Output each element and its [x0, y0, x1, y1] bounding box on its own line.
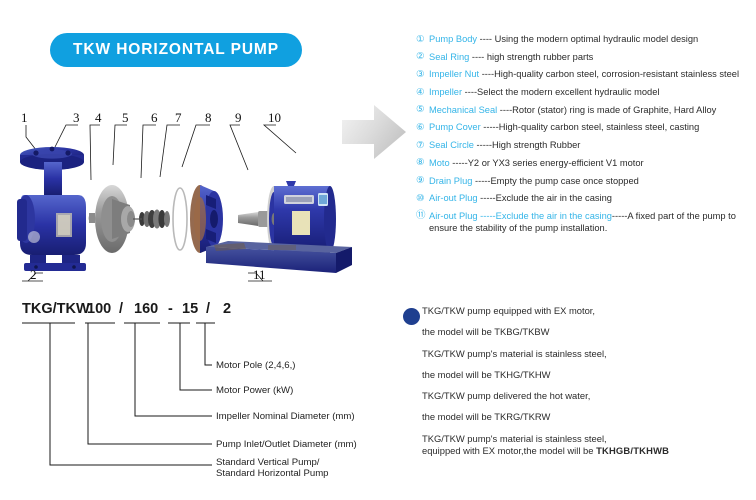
- model-variant-notes: TKG/TKW pump equipped with EX motor, the…: [400, 300, 756, 495]
- impeller-part: [95, 185, 135, 253]
- seal-circle-part: [173, 188, 187, 250]
- part-name: Pump Body: [429, 34, 477, 44]
- part-name: Air-out Plug -----Exclude the air in the…: [429, 211, 612, 221]
- parts-legend-list: ① Pump Body ---- Using the modern optima…: [416, 33, 756, 240]
- callout-number-11: 11: [253, 267, 266, 282]
- part-description: ----Rotor (stator) ring is made of Graph…: [497, 105, 716, 115]
- model-token-dash: -: [168, 301, 173, 317]
- model-token-impeller: 160: [134, 301, 158, 317]
- part-number: ⑨: [416, 175, 429, 188]
- label-motor-power: Motor Power (kW): [216, 385, 293, 396]
- part-number: ⑥: [416, 121, 429, 134]
- note-line: TKG/TKW pump's material is stainless ste…: [422, 433, 752, 444]
- label-motor-pole: Motor Pole (2,4,6,): [216, 360, 295, 371]
- part-description: -----Y2 or YX3 series energy-efficient V…: [450, 158, 644, 168]
- part-number: ⑦: [416, 139, 429, 152]
- parts-list-item: ⑤ Mechanical Seal ----Rotor (stator) rin…: [416, 104, 756, 117]
- page-title: TKW HORIZONTAL PUMP: [73, 41, 279, 59]
- callout-number-3: 3: [73, 110, 80, 125]
- note-line: equipped with EX motor,the model will be…: [422, 445, 752, 456]
- note-line: TKG/TKW pump equipped with EX motor,: [422, 305, 752, 316]
- callout-number-9: 9: [235, 110, 242, 125]
- nomenclature-leader-lines: [50, 323, 212, 465]
- part-name: Air-out Plug: [429, 193, 478, 203]
- bullet-dot-icon: [403, 308, 420, 325]
- part-name: Impeller: [429, 87, 462, 97]
- parts-list-item: ⑨ Drain Plug -----Empty the pump case on…: [416, 175, 756, 188]
- callout-number-8: 8: [205, 110, 212, 125]
- label-standard-pump-line2: Standard Horizontal Pump: [216, 468, 329, 479]
- model-token-power: 15: [182, 301, 198, 317]
- part-description: ---- Using the modern optimal hydraulic …: [477, 34, 698, 44]
- parts-list-item: ③ Impeller Nut ----High-quality carbon s…: [416, 68, 756, 81]
- pump-cover-part: [190, 185, 223, 253]
- model-token-pole: 2: [223, 301, 231, 317]
- part-number: ⑤: [416, 104, 429, 117]
- part-number: ①: [416, 33, 429, 46]
- note-line-text: equipped with EX motor,the model will be: [422, 445, 596, 456]
- callout-number-2: 2: [30, 267, 37, 282]
- note-line: the model will be TKHG/TKHW: [422, 369, 752, 380]
- part-name: Moto: [429, 158, 450, 168]
- parts-list-item: ② Seal Ring ---- high strength rubber pa…: [416, 51, 756, 64]
- callout-number-6: 6: [151, 110, 158, 125]
- part-name: Seal Ring: [429, 52, 469, 62]
- callout-number-4: 4: [95, 110, 102, 125]
- part-description: -----High strength Rubber: [474, 140, 580, 150]
- note-line-model: TKHGB/TKHWB: [596, 445, 669, 456]
- page-title-banner: TKW HORIZONTAL PUMP: [50, 33, 302, 67]
- part-number: ④: [416, 86, 429, 99]
- part-name: Mechanical Seal: [429, 105, 497, 115]
- parts-list-item: ① Pump Body ---- Using the modern optima…: [416, 33, 756, 46]
- model-designation-diagram: TKG/TKW 100 / 160 - 15 / 2: [0, 295, 400, 500]
- callout-number-7: 7: [175, 110, 182, 125]
- parts-list-item: ④ Impeller ----Select the modern excelle…: [416, 86, 756, 99]
- part-description: -----High-quality carbon steel, stainles…: [481, 122, 700, 132]
- parts-list-item: ⑥ Pump Cover -----High-quality carbon st…: [416, 121, 756, 134]
- parts-list-item: ⑪ Air-out Plug -----Exclude the air in t…: [416, 210, 756, 235]
- callout-number-10: 10: [268, 110, 281, 125]
- model-token-slash2: /: [206, 301, 210, 317]
- part-description: ----High-quality carbon steel, corrosion…: [479, 69, 739, 79]
- model-token-inlet: 100: [87, 301, 111, 317]
- nomenclature-labels: Motor Pole (2,4,6,) Motor Power (kW) Imp…: [216, 360, 357, 479]
- part-name: Impeller Nut: [429, 69, 479, 79]
- note-line: the model will be TKBG/TKBW: [422, 326, 752, 337]
- label-inlet-outlet-diameter: Pump Inlet/Outlet Diameter (mm): [216, 439, 357, 450]
- part-number: ⑩: [416, 192, 429, 205]
- mechanical-seal-part: [133, 210, 170, 229]
- parts-list-item: ⑧ Moto -----Y2 or YX3 series energy-effi…: [416, 157, 756, 170]
- label-standard-pump-line1: Standard Vertical Pump/: [216, 457, 320, 468]
- pump-body-part: [17, 147, 86, 271]
- label-impeller-diameter: Impeller Nominal Diameter (mm): [216, 411, 355, 422]
- part-name: Pump Cover: [429, 122, 481, 132]
- part-number: ③: [416, 68, 429, 81]
- right-arrow-icon: [340, 100, 410, 165]
- model-token-slash1: /: [119, 301, 123, 317]
- part-description: ---- high strength rubber parts: [469, 52, 593, 62]
- impeller-nut-part: [89, 213, 96, 223]
- part-number: ⑪: [416, 210, 429, 223]
- note-line: the model will be TKRG/TKRW: [422, 411, 752, 422]
- parts-list-item: ⑩ Air-out Plug -----Exclude the air in t…: [416, 192, 756, 205]
- part-name: Seal Circle: [429, 140, 474, 150]
- part-number: ②: [416, 51, 429, 64]
- part-description: -----Empty the pump case once stopped: [472, 176, 638, 186]
- note-line: TKG/TKW pump delivered the hot water,: [422, 390, 752, 401]
- callout-number-1: 1: [21, 110, 28, 125]
- note-line: TKG/TKW pump's material is stainless ste…: [422, 348, 752, 359]
- callout-number-5: 5: [122, 110, 129, 125]
- part-name: Drain Plug: [429, 176, 472, 186]
- model-token-series: TKG/TKW: [22, 301, 90, 317]
- part-description: -----Exclude the air in the casing: [478, 193, 612, 203]
- model-string: TKG/TKW 100 / 160 - 15 / 2: [22, 301, 231, 317]
- part-description: ----Select the modern excellent hydrauli…: [462, 87, 659, 97]
- part-number: ⑧: [416, 157, 429, 170]
- parts-list-item: ⑦ Seal Circle -----High strength Rubber: [416, 139, 756, 152]
